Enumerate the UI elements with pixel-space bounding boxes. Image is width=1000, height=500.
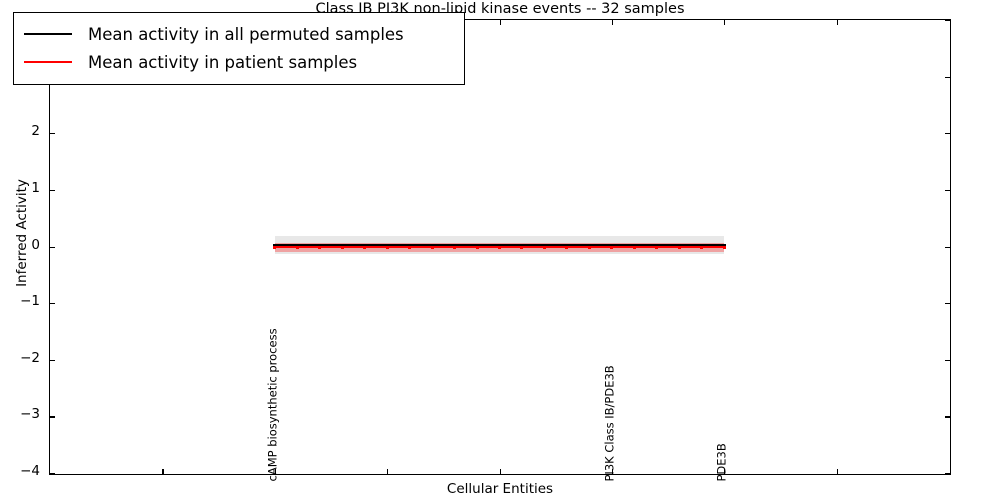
data-point-marker (408, 246, 411, 249)
data-point-marker (723, 246, 726, 249)
data-point-marker (610, 246, 613, 249)
data-point-marker (341, 246, 344, 249)
data-point-marker (386, 246, 389, 249)
data-point-marker (520, 246, 523, 249)
x-tick-label: PI3K Class IB/PDE3B (604, 365, 616, 481)
data-point-marker (431, 246, 434, 249)
y-tick-label-text: 0 (31, 237, 40, 253)
data-point-marker (700, 246, 703, 249)
y-axis-label: Inferred Activity (14, 23, 30, 443)
x-tick-mark (612, 20, 613, 25)
y-tick-label-text: −3 (20, 406, 40, 422)
legend-label-patient: Mean activity in patient samples (88, 53, 357, 72)
data-point-marker (296, 246, 299, 249)
data-point-marker (588, 246, 591, 249)
x-tick-label: cAMP biosynthetic process (267, 328, 279, 481)
y-tick-mark (945, 20, 950, 21)
data-point-marker (565, 246, 568, 249)
y-tick-mark (945, 360, 950, 361)
y-tick-mark (50, 247, 55, 248)
data-point-marker (273, 246, 276, 249)
y-tick-mark (50, 416, 55, 417)
y-tick-mark (945, 303, 950, 304)
data-point-marker (476, 246, 479, 249)
data-layer (50, 20, 950, 474)
y-tick-mark (50, 360, 55, 361)
data-point-marker (453, 246, 456, 249)
x-tick-mark (162, 469, 163, 474)
data-point-marker (498, 246, 501, 249)
x-tick-mark (387, 469, 388, 474)
x-tick-mark (500, 20, 501, 25)
x-tick-mark (837, 469, 838, 474)
x-tick-mark (724, 20, 725, 25)
y-tick-label-text: −2 (20, 350, 40, 366)
legend-item[interactable]: Mean activity in patient samples (24, 48, 452, 76)
y-tick-mark (945, 416, 950, 417)
y-tick-label-text: −1 (20, 293, 40, 309)
chart-legend: Mean activity in all permuted samples Me… (13, 12, 465, 85)
data-point-marker (655, 246, 658, 249)
legend-label-permuted: Mean activity in all permuted samples (88, 25, 404, 44)
data-point-marker (363, 246, 366, 249)
data-point-marker (678, 246, 681, 249)
legend-swatch-permuted (24, 33, 72, 35)
y-tick-mark (945, 473, 950, 474)
y-tick-mark (50, 190, 55, 191)
y-tick-mark (50, 133, 55, 134)
data-point-marker (633, 246, 636, 249)
y-tick-mark (50, 473, 55, 474)
chart-figure: Class IB PI3K non-lipid kinase events --… (0, 0, 1000, 500)
data-point-marker (543, 246, 546, 249)
x-tick-mark (500, 469, 501, 474)
y-tick-label-text: −4 (20, 463, 40, 479)
y-tick-mark (945, 190, 950, 191)
y-tick-label-text: 1 (31, 180, 40, 196)
legend-swatch-patient (24, 61, 72, 63)
y-tick-mark (945, 77, 950, 78)
x-axis-label: Cellular Entities (49, 481, 951, 497)
x-tick-label: PDE3B (717, 443, 729, 481)
x-tick-mark (837, 20, 838, 25)
data-point-marker (318, 246, 321, 249)
y-tick-mark (945, 247, 950, 248)
y-tick-mark (945, 133, 950, 134)
plot-area (49, 19, 951, 475)
legend-item[interactable]: Mean activity in all permuted samples (24, 20, 452, 48)
y-tick-label-text: 2 (31, 123, 40, 139)
y-tick-mark (50, 303, 55, 304)
